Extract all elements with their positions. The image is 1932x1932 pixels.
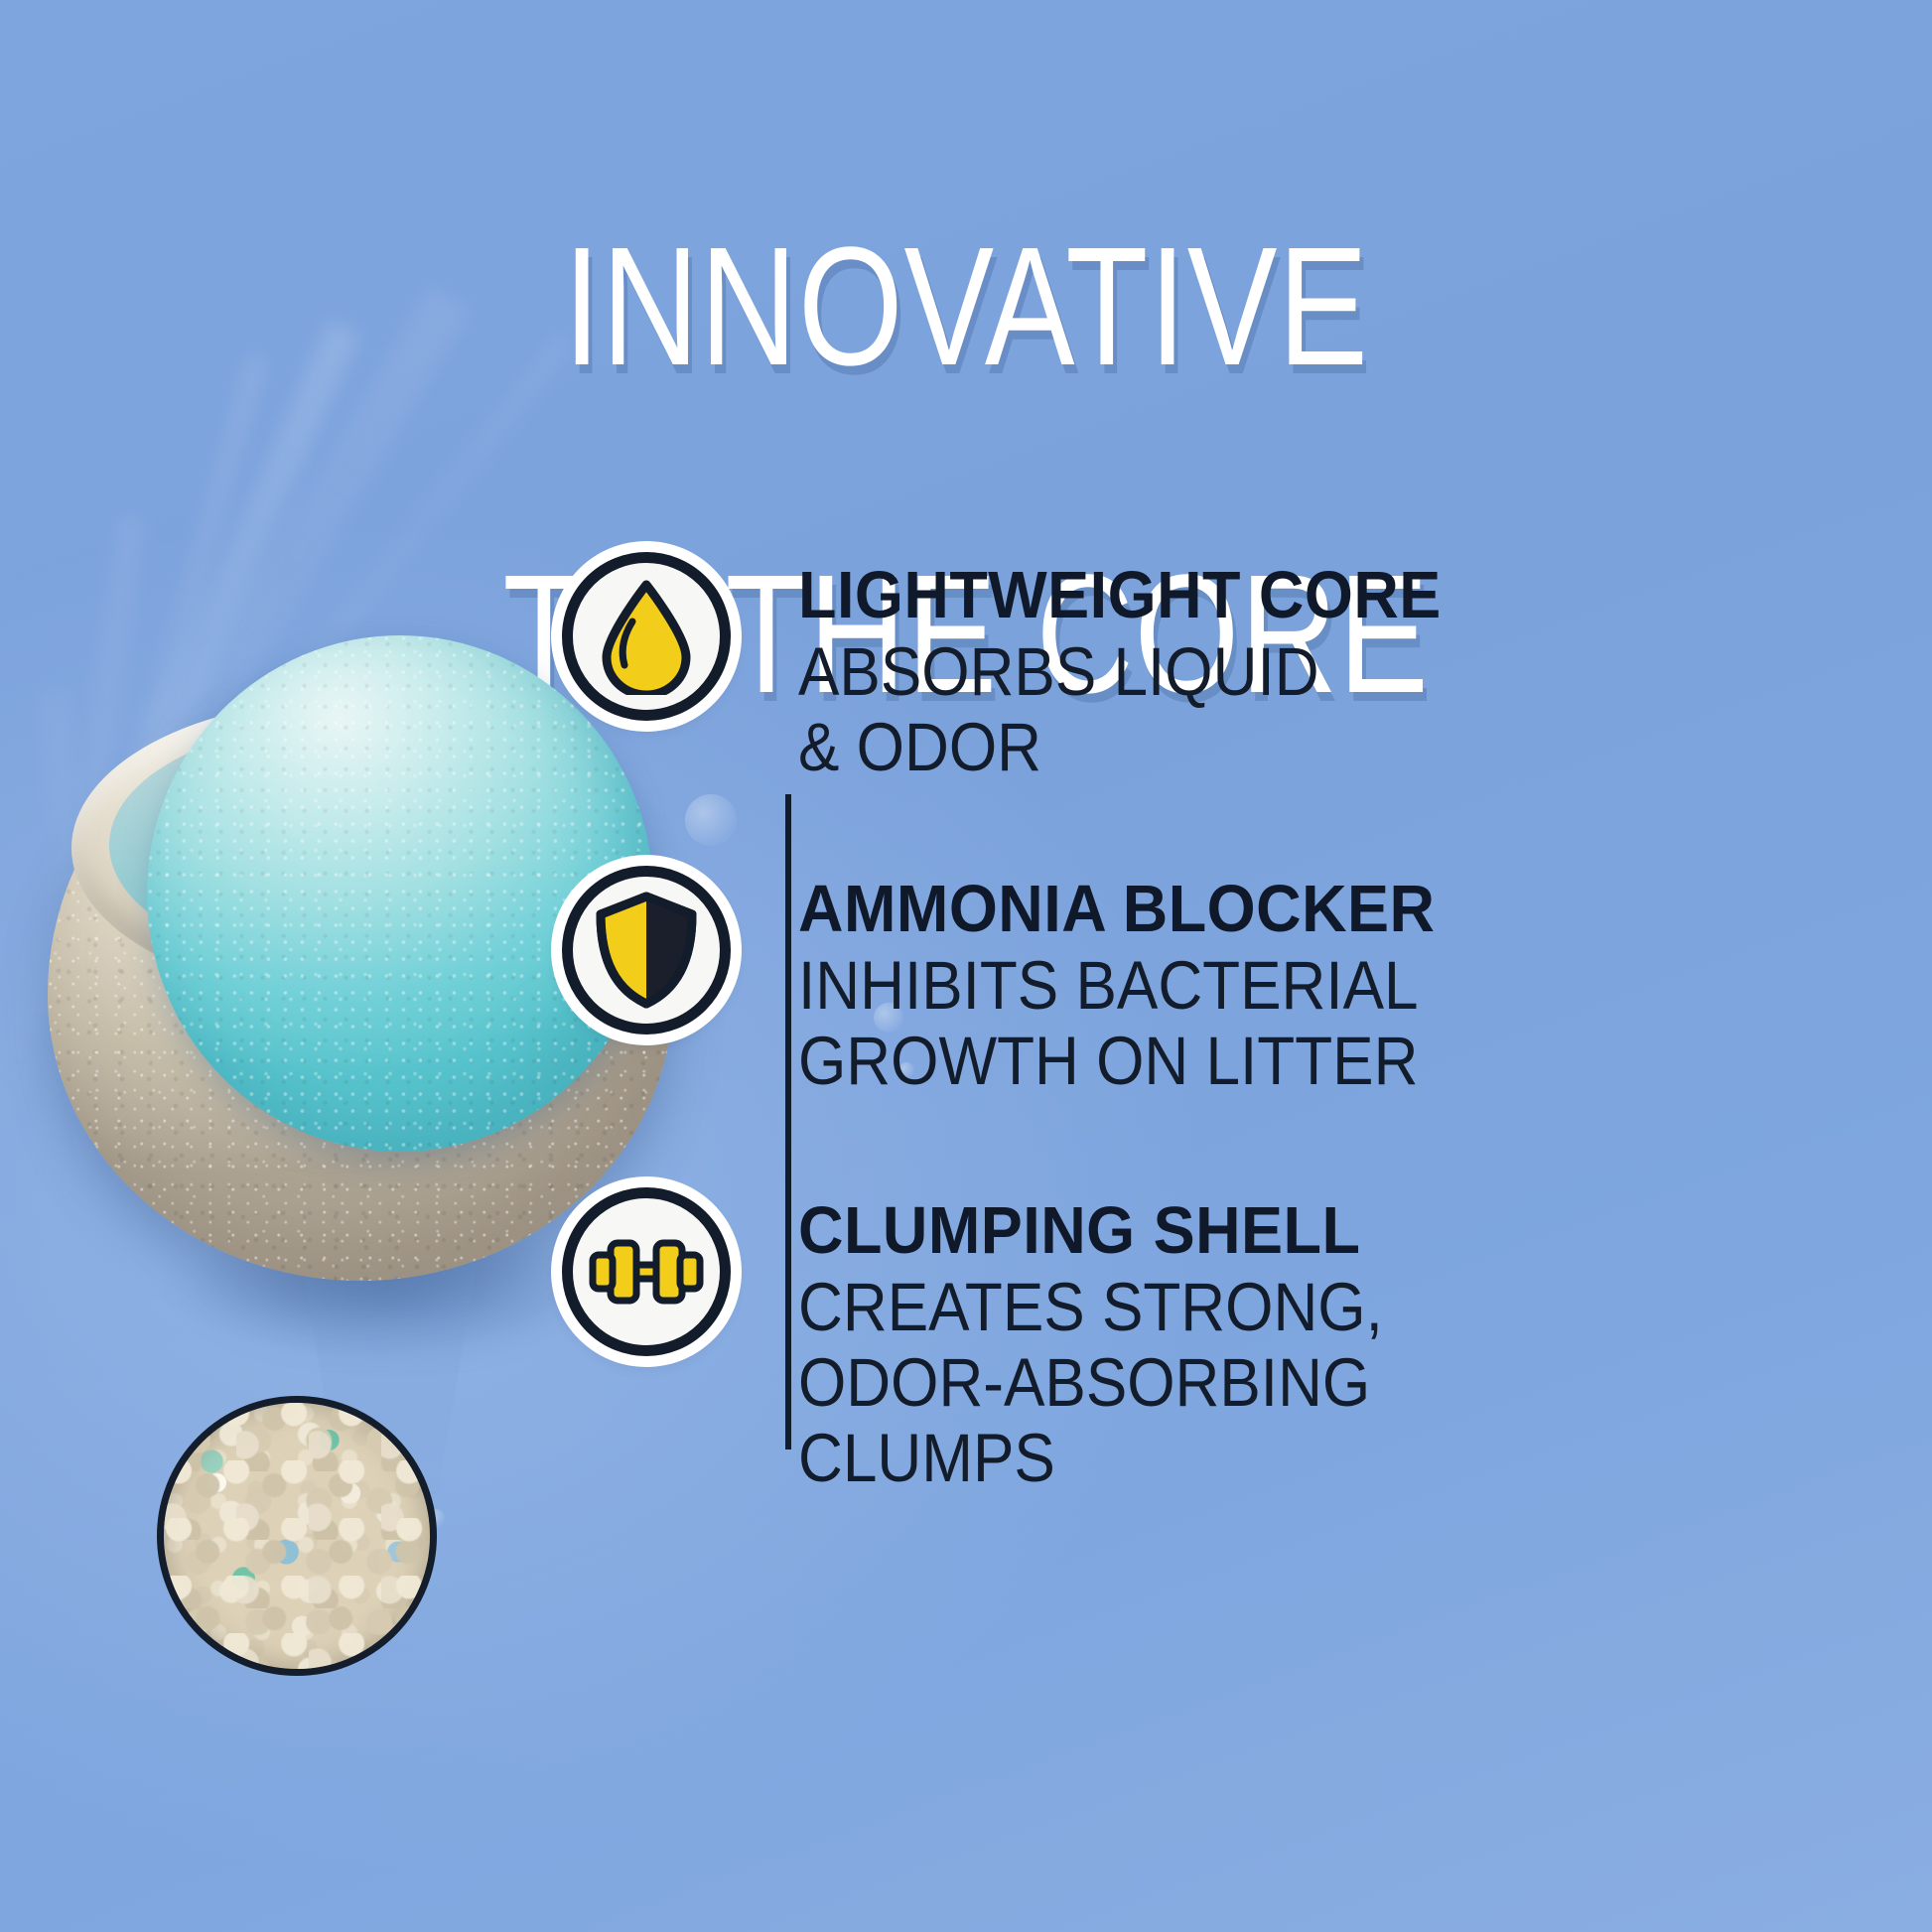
feature-row-ammonia-blocker: AMMONIA BLOCKER INHIBITS BACTERIAL GROWT… — [562, 866, 1487, 1099]
droplet-icon-badge — [562, 552, 731, 721]
shield-icon-badge — [562, 866, 731, 1035]
title-line-1: INNOVATIVE — [194, 225, 1739, 389]
feature-row-clumping-shell: CLUMPING SHELL CREATES STRONG, ODOR-ABSO… — [562, 1187, 1448, 1496]
feature-heading: CLUMPING SHELL — [798, 1197, 1409, 1264]
feature-body: CREATES STRONG, ODOR-ABSORBING CLUMPS — [798, 1270, 1383, 1496]
feature-text-block: CLUMPING SHELL CREATES STRONG, ODOR-ABSO… — [798, 1187, 1448, 1496]
feature-heading: AMMONIA BLOCKER — [798, 876, 1446, 942]
feature-row-lightweight-core: LIGHTWEIGHT CORE ABSORBS LIQUID & ODOR — [562, 552, 1482, 785]
dumbbell-icon — [585, 1229, 708, 1314]
shield-icon — [592, 891, 701, 1010]
feature-text-block: AMMONIA BLOCKER INHIBITS BACTERIAL GROWT… — [798, 866, 1487, 1099]
feature-heading: LIGHTWEIGHT CORE — [798, 562, 1442, 628]
feature-text-block: LIGHTWEIGHT CORE ABSORBS LIQUID & ODOR — [798, 552, 1482, 785]
litter-granules-closeup — [157, 1396, 437, 1676]
droplet-icon — [593, 578, 700, 695]
feature-body: ABSORBS LIQUID & ODOR — [798, 634, 1414, 785]
infographic-poster: INNOVATIVE TO THE CORE LIGHTWEIGHT CORE … — [0, 0, 1932, 1932]
dumbbell-icon-badge — [562, 1187, 731, 1356]
feature-body: INHIBITS BACTERIAL GROWTH ON LITTER — [798, 948, 1419, 1099]
